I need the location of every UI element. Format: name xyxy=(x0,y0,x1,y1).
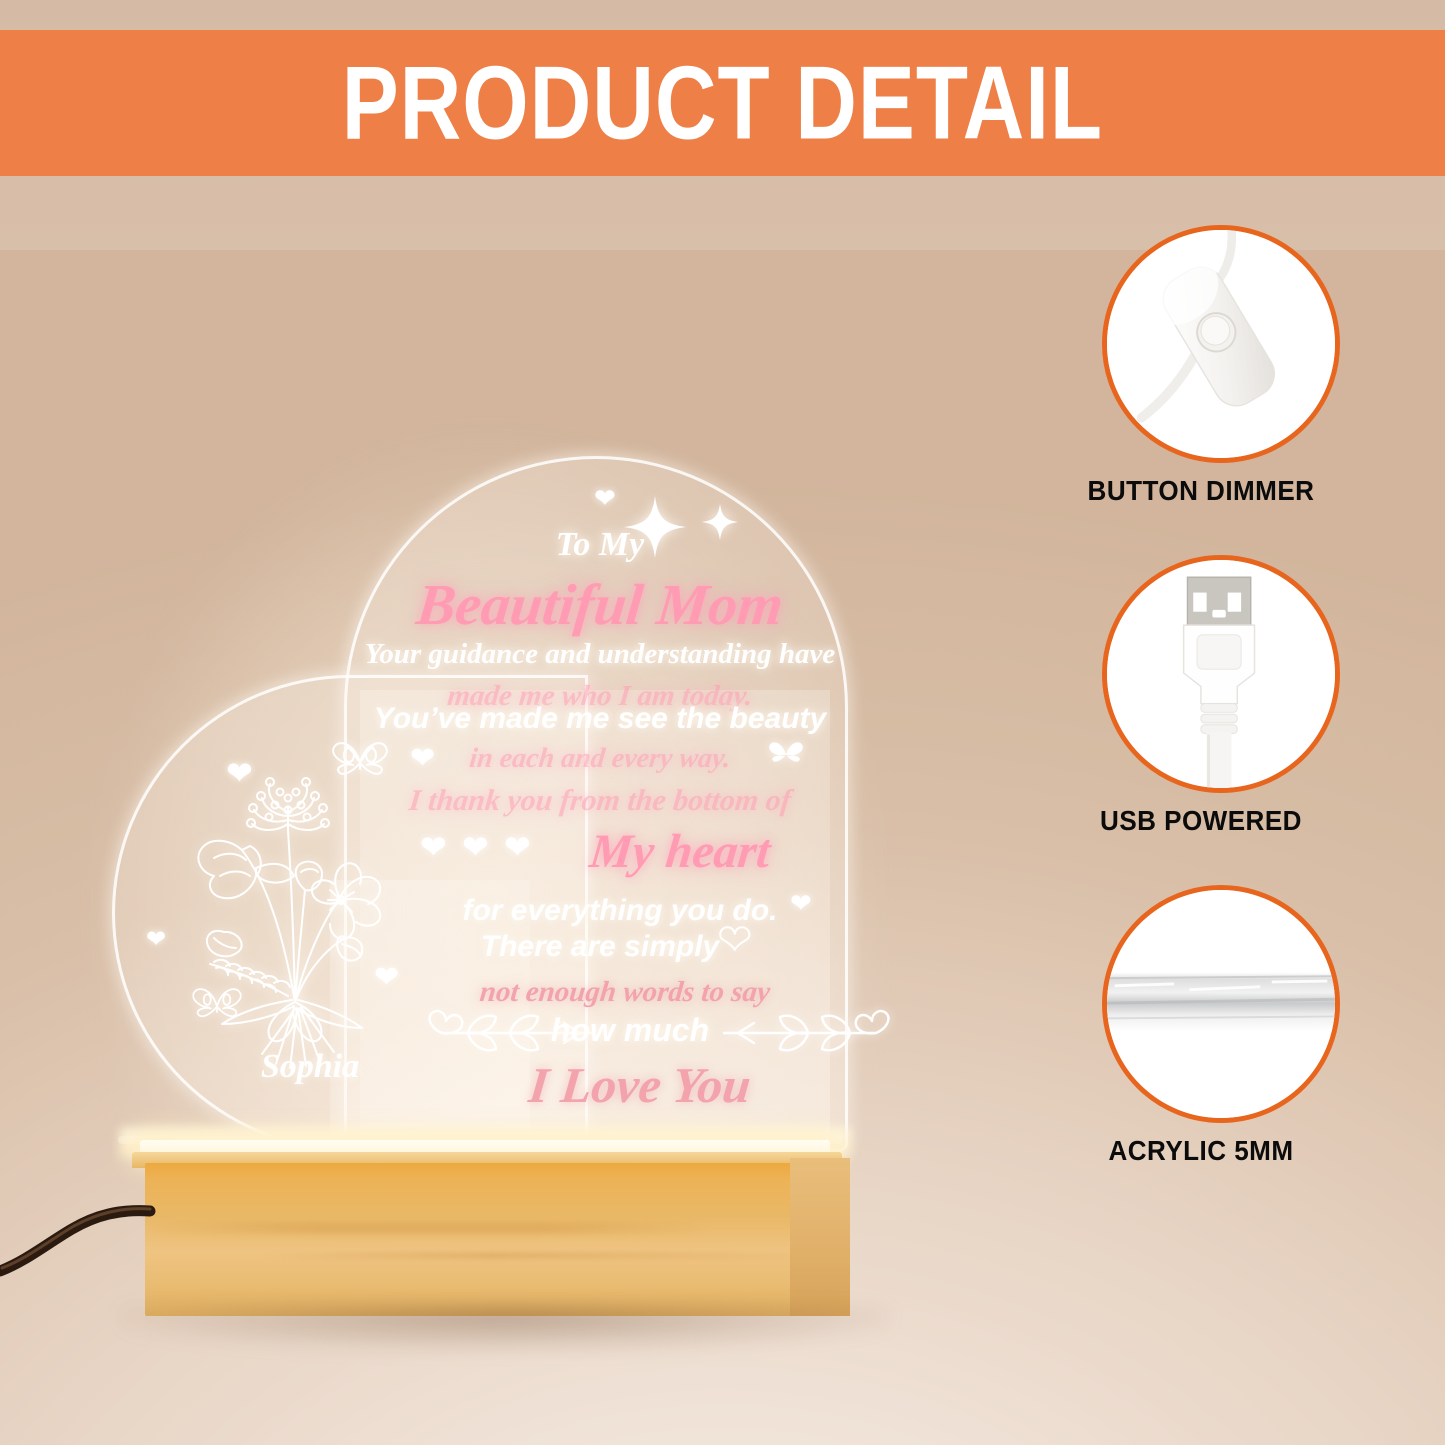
plaque-line-how-much: how much xyxy=(480,1014,780,1046)
power-cord xyxy=(0,1195,260,1315)
feature-label: ACRYLIC 5MM xyxy=(1051,1135,1350,1167)
product-detail-banner: PRODUCT DETAIL xyxy=(0,30,1445,176)
wildflower-bouquet-icon xyxy=(170,772,420,1072)
heart-icon: ❤ xyxy=(146,928,166,952)
plaque-line-guidance: Your guidance and understanding have xyxy=(355,640,845,669)
plaque-line-everything: for everything you do. xyxy=(420,896,820,926)
plaque-line-every-way: in each and every way. xyxy=(374,745,827,773)
plaque-line-thank-you: I thank you from the bottom of xyxy=(358,786,841,816)
feature-button-dimmer: BUTTON DIMMER xyxy=(1040,225,1440,555)
feature-list: BUTTON DIMMER xyxy=(1040,225,1440,1215)
inline-switch-icon xyxy=(1107,230,1335,458)
plaque-line-i-love-you: I Love You xyxy=(437,1060,842,1110)
feature-label: USB POWERED xyxy=(1051,805,1350,837)
feature-image-circle xyxy=(1102,885,1340,1123)
feature-label: BUTTON DIMMER xyxy=(1051,475,1350,507)
feature-image-circle xyxy=(1102,555,1340,793)
heart-icon: ❤ xyxy=(462,831,489,863)
wood-grain xyxy=(260,1252,840,1259)
feature-image-circle xyxy=(1102,225,1340,463)
plaque-line-not-enough-words: not enough words to say xyxy=(398,978,851,1007)
heart-icon: ❤ xyxy=(504,831,531,863)
feature-usb-powered: USB POWERED xyxy=(1040,555,1440,885)
heart-icon: ❤ xyxy=(420,831,447,863)
usb-a-connector-icon xyxy=(1107,560,1335,788)
acrylic-edge-icon xyxy=(1107,890,1335,1118)
plaque-line-my-heart: My heart xyxy=(552,828,807,876)
feature-acrylic-thickness: ACRYLIC 5MM xyxy=(1040,885,1440,1215)
plaque-line-beautiful-mom: Beautiful Mom xyxy=(367,576,833,634)
plaque-line-to-my: To My xyxy=(400,528,800,562)
plaque-line-simply: There are simply xyxy=(400,932,800,962)
night-light-product-photo: ❤ ❤ ❤ ❤ ❤ ❤ ❤ ❤ ❤ ❤ xyxy=(0,0,1000,1445)
plaque-line-beauty: You’ve made me see the beauty xyxy=(370,704,830,734)
page-title: PRODUCT DETAIL xyxy=(342,51,1103,155)
heart-icon: ❤ xyxy=(594,485,616,511)
personalized-name: Sophia xyxy=(185,1048,435,1086)
base-right-face xyxy=(790,1158,850,1316)
